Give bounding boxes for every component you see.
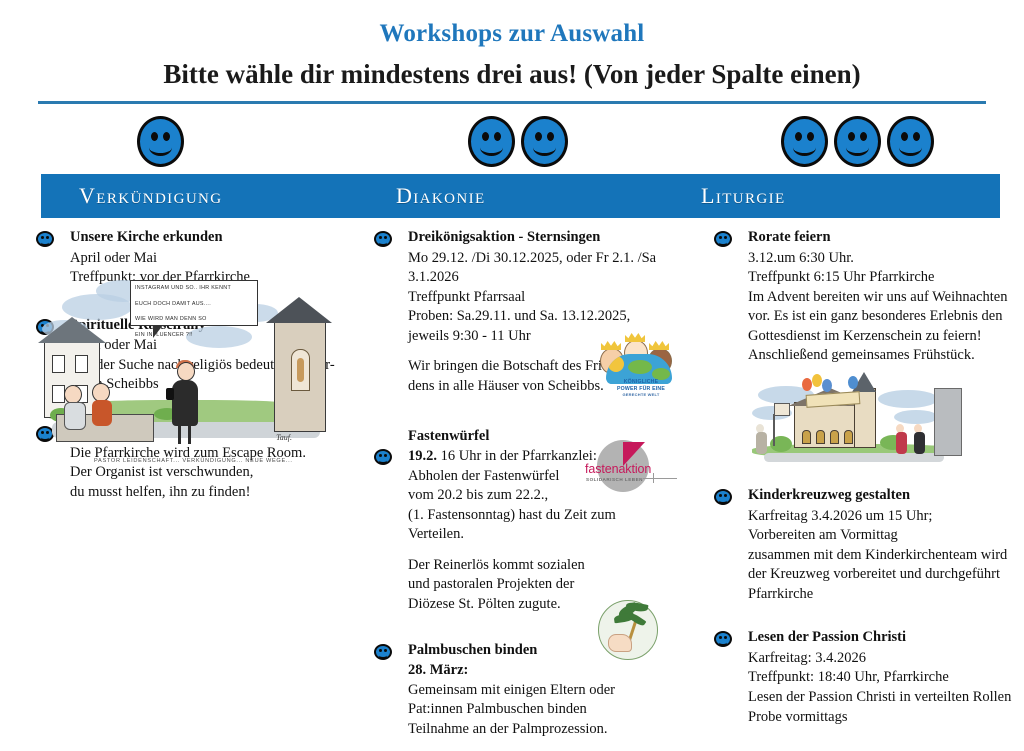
priest-figure <box>168 358 202 444</box>
workshop-line: Gottesdienst im Kerzenschein zu feiern! <box>748 327 1014 347</box>
workshop-lead-rest: 16 Uhr in der Pfarrkanzlei: <box>437 448 597 464</box>
smiley-icon <box>834 116 881 167</box>
workshop-line: Treffpunkt 6:15 Uhr Pfarrkirche <box>748 268 1014 288</box>
palmbuschen-icon <box>598 600 658 660</box>
workshop-item[interactable]: Rorate feiern 3.12.um 6:30 Uhr. Treffpun… <box>714 228 1014 366</box>
workshop-line: Treffpunkt Pfarrsaal <box>408 288 684 308</box>
artist-signature: Tauf. <box>276 433 292 442</box>
smiley-group-diakonie <box>468 116 568 167</box>
workshop-line: Pat:innen Palmbuschen binden <box>408 700 684 720</box>
poster-page: Workshops zur Auswahl Bitte wähle dir mi… <box>0 0 1024 724</box>
smiley-icon <box>468 116 515 167</box>
smiley-group-liturgie <box>781 116 934 167</box>
workshop-paragraph-line: Der Reinerlös kommt sozialen <box>408 556 684 576</box>
workshop-lead-date: 19.2. <box>408 448 437 464</box>
fastenaktion-wordmark: fastenaktion <box>585 462 685 476</box>
workshop-line: 3.12.um 6:30 Uhr. <box>748 249 1014 269</box>
person-figure <box>756 424 767 454</box>
workshop-line: der Kreuzweg vorbereitet und durchgeführ… <box>748 565 1014 585</box>
smiley-icon <box>781 116 828 167</box>
workshop-line: du musst helfen, ihn zu finden! <box>70 483 366 503</box>
workshop-line: vor. Es ist ein ganz besonderes Erlebnis… <box>748 307 1014 327</box>
workshop-line: April oder Mai <box>70 249 366 269</box>
speech-bubble-line: EUCH DOCH DAMIT AUS.... <box>131 297 257 313</box>
sternsinger-logo: KÖNIGLICHE POWER FÜR EINE GERECHTE WELT <box>600 322 682 398</box>
speech-bubble-line: EIN INFLUENCER ?!! <box>131 328 257 344</box>
workshop-title: Unsere Kirche erkunden <box>70 228 366 248</box>
workshop-line: Vorbereiten am Vormittag <box>748 526 1014 546</box>
workshop-line: Karfreitag 3.4.2026 um 15 Uhr; <box>748 507 1014 527</box>
fastenaktion-logo: fastenaktion SOLIDARISCH LEBEN <box>585 440 685 502</box>
workshop-line: Im Advent bereiten wir uns auf Weihnacht… <box>748 288 1014 308</box>
kid-figure <box>64 385 86 430</box>
smiley-bullet-icon <box>36 231 54 247</box>
category-bar: Verkündigung Diakonie Liturgie <box>41 174 1000 218</box>
flag-shape <box>774 403 790 416</box>
workshop-item[interactable]: Kinderkreuzweg gestalten Karfreitag 3.4.… <box>714 486 1014 604</box>
workshop-line: Probe vormittags <box>748 708 1014 728</box>
workshop-line: Lesen der Passion Christi in verteilten … <box>748 688 1014 708</box>
fastenaktion-tagline: SOLIDARISCH LEBEN <box>586 477 643 482</box>
logo-text-line: GERECHTE WELT <box>600 392 682 398</box>
building-shape <box>934 388 962 456</box>
workshop-line: Gemeinsam mit einigen Eltern oder <box>408 681 684 701</box>
person-figure <box>896 424 907 454</box>
header-divider <box>38 101 986 104</box>
church-tower-shape <box>274 322 326 432</box>
sternsinger-logo-text: KÖNIGLICHE POWER FÜR EINE GERECHTE WELT <box>600 379 682 398</box>
kid-figure <box>92 383 112 426</box>
speech-bubble: INSTAGRAM UND SO.. IHR KENNT EUCH DOCH D… <box>130 280 258 326</box>
workshop-title: Kinderkreuzweg gestalten <box>748 486 1014 506</box>
category-label-diakonie: Diakonie <box>396 183 486 209</box>
workshop-line: Karfreitag: 3.4.2026 <box>748 649 1014 669</box>
workshop-line: Teilnahme an der Palmprozession. <box>408 720 684 740</box>
workshop-line: Mo 29.12. /Di 30.12.2025, oder Fr 2.1. /… <box>408 249 684 288</box>
smiley-group-verkuendigung <box>137 116 184 167</box>
smiley-bullet-icon <box>374 231 392 247</box>
workshop-line: Anschließend gemeinsames Frühstück. <box>748 346 1014 366</box>
person-figure <box>914 424 925 454</box>
smiley-icon <box>887 116 934 167</box>
smiley-icon <box>137 116 184 167</box>
category-label-verkuendigung: Verkündigung <box>79 183 223 209</box>
cartoon-caption: PASTOR LEIDENSCHAFT... VERKÜNDIGUNG... N… <box>94 458 293 464</box>
column-liturgie: Rorate feiern 3.12.um 6:30 Uhr. Treffpun… <box>714 228 1014 739</box>
smiley-bullet-icon <box>374 449 392 465</box>
workshop-item[interactable]: Lesen der Passion Christi Karfreitag: 3.… <box>714 628 1014 727</box>
church-watercolor-illustration <box>744 372 968 468</box>
smiley-bullet-icon <box>374 644 392 660</box>
workshop-line: Pfarrkirche <box>748 585 1014 605</box>
workshop-lead-date: 28. März: <box>408 661 684 681</box>
smiley-bullet-icon <box>714 631 732 647</box>
smiley-icon <box>521 116 568 167</box>
speech-bubble-line: INSTAGRAM UND SO.. IHR KENNT <box>131 281 257 297</box>
category-label-liturgie: Liturgie <box>701 183 786 209</box>
workshop-line: Treffpunkt: 18:40 Uhr, Pfarrkirche <box>748 668 1014 688</box>
page-title: Workshops zur Auswahl <box>0 0 1024 48</box>
speech-bubble-line: WIE WIRD MAN DENN SO <box>131 312 257 328</box>
workshop-line: (1. Fastensonntag) hast du Zeit zum <box>408 506 684 526</box>
smiley-bullet-icon <box>714 489 732 505</box>
workshop-title: Dreikönigsaktion - Sternsingen <box>408 228 684 248</box>
page-subtitle: Bitte wähle dir mindestens drei aus! (Vo… <box>0 48 1024 90</box>
smiley-bullet-icon <box>714 231 732 247</box>
cartoon-priest-influencer-illustration: INSTAGRAM UND SO.. IHR KENNT EUCH DOCH D… <box>36 276 336 466</box>
workshop-title: Rorate feiern <box>748 228 1014 248</box>
smiley-rating-row <box>41 116 1000 174</box>
workshop-line: zusammen mit dem Kinderkirchenteam wird <box>748 546 1014 566</box>
workshop-title: Lesen der Passion Christi <box>748 628 1014 648</box>
workshop-paragraph-line: und pastoralen Projekten der <box>408 575 684 595</box>
workshop-line: Verteilen. <box>408 525 684 545</box>
